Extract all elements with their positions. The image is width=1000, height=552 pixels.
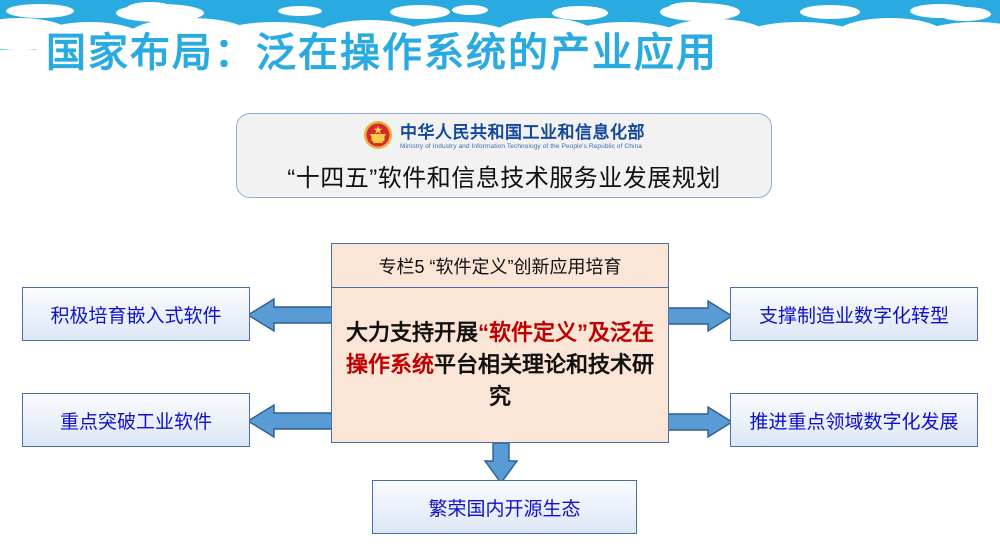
china-national-emblem-icon [363,120,393,155]
arrow-left-bottom-icon [248,402,334,445]
outcome-label: 支撑制造业数字化转型 [759,301,949,328]
outcome-box-left-top[interactable]: 积极培育嵌入式软件 [22,287,250,341]
outcome-box-bottom[interactable]: 繁荣国内开源生态 [372,480,637,534]
ministry-name-en: Ministry of Industry and Information Tec… [400,144,645,151]
outcome-label: 重点突破工业软件 [60,407,212,434]
outcome-box-right-bottom[interactable]: 推进重点领域数字化发展 [730,393,978,447]
center-body-segment-3: 平台相关理论和技术研究 [434,352,654,409]
outcome-label: 推进重点领域数字化发展 [749,407,958,434]
miit-logo-row: 中华人民共和国工业和信息化部 Ministry of Industry and … [237,120,771,154]
page-title: 国家布局：泛在操作系统的产业应用 [46,30,718,76]
ministry-name-cn: 中华人民共和国工业和信息化部 [400,124,645,141]
arrow-left-top-icon [248,296,334,339]
plan-title: “十四五”软件和信息技术服务业发展规划 [237,158,771,193]
outcome-label: 积极培育嵌入式软件 [50,301,221,328]
outcome-box-left-bottom[interactable]: 重点突破工业软件 [22,393,250,447]
outcome-label: 繁荣国内开源生态 [428,494,580,521]
arrow-right-bottom-icon [668,404,732,445]
center-body-segment-1: 大力支持开展 [346,320,478,345]
center-box-header: 专栏5 “软件定义”创新应用培育 [332,244,668,288]
miit-policy-card: 中华人民共和国工业和信息化部 Ministry of Industry and … [236,113,772,198]
outcome-box-right-top[interactable]: 支撑制造业数字化转型 [730,287,978,341]
center-policy-box: 专栏5 “软件定义”创新应用培育 大力支持开展“软件定义”及泛在操作系统平台相关… [331,243,669,443]
center-box-body: 大力支持开展“软件定义”及泛在操作系统平台相关理论和技术研究 [332,288,668,442]
arrow-right-top-icon [668,298,732,339]
